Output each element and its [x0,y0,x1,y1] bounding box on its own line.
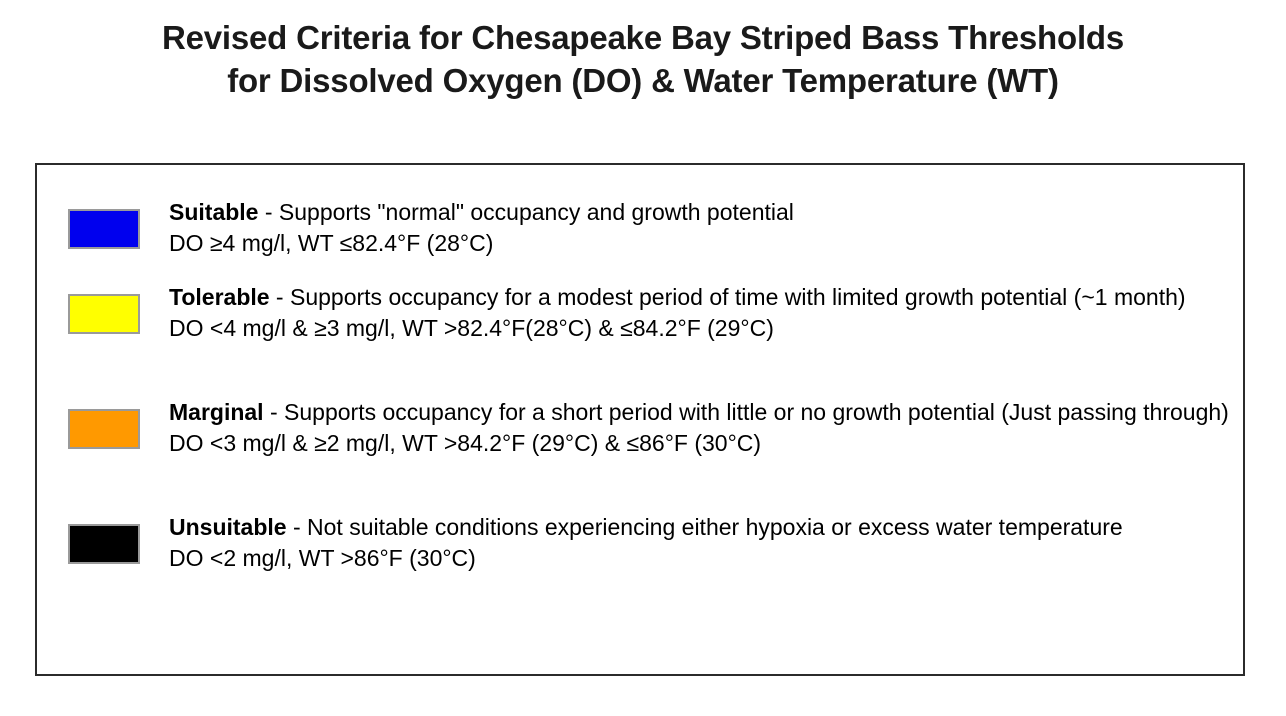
legend-description-suitable: Supports "normal" occupancy and growth p… [279,199,794,225]
legend-label-marginal: Marginal [169,399,264,425]
legend-criteria-tolerable: DO <4 mg/l & ≥3 mg/l, WT >82.4°F(28°C) &… [169,313,1229,344]
page-title-line-1: Revised Criteria for Chesapeake Bay Stri… [40,16,1246,59]
legend-entry-text-tolerable: Tolerable - Supports occupancy for a mod… [169,282,1229,344]
legend-criteria-unsuitable: DO <2 mg/l, WT >86°F (30°C) [169,543,1229,574]
color-swatch-suitable [68,209,140,249]
legend-label-tolerable: Tolerable [169,284,270,310]
legend-description-marginal: Supports occupancy for a short period wi… [284,399,1229,425]
legend-entry-text-marginal: Marginal - Supports occupancy for a shor… [169,397,1229,459]
legend-entry-text-suitable: Suitable - Supports "normal" occupancy a… [169,197,1229,259]
legend-panel: Suitable - Supports "normal" occupancy a… [35,163,1245,676]
legend-entry-text-unsuitable: Unsuitable - Not suitable conditions exp… [169,512,1229,574]
legend-separator-tolerable: - [270,284,290,310]
slide-canvas: Revised Criteria for Chesapeake Bay Stri… [0,0,1286,716]
legend-list: Suitable - Supports "normal" occupancy a… [37,165,1243,674]
legend-criteria-marginal: DO <3 mg/l & ≥2 mg/l, WT >84.2°F (29°C) … [169,428,1229,459]
color-swatch-tolerable [68,294,140,334]
legend-separator-unsuitable: - [287,514,307,540]
legend-label-suitable: Suitable [169,199,258,225]
legend-description-unsuitable: Not suitable conditions experiencing eit… [307,514,1123,540]
page-title-line-2: for Dissolved Oxygen (DO) & Water Temper… [40,59,1246,102]
page-title: Revised Criteria for Chesapeake Bay Stri… [40,16,1246,102]
legend-criteria-suitable: DO ≥4 mg/l, WT ≤82.4°F (28°C) [169,228,1229,259]
legend-label-unsuitable: Unsuitable [169,514,287,540]
legend-description-tolerable: Supports occupancy for a modest period o… [290,284,1186,310]
legend-separator-marginal: - [264,399,284,425]
color-swatch-unsuitable [68,524,140,564]
color-swatch-marginal [68,409,140,449]
legend-separator-suitable: - [258,199,278,225]
